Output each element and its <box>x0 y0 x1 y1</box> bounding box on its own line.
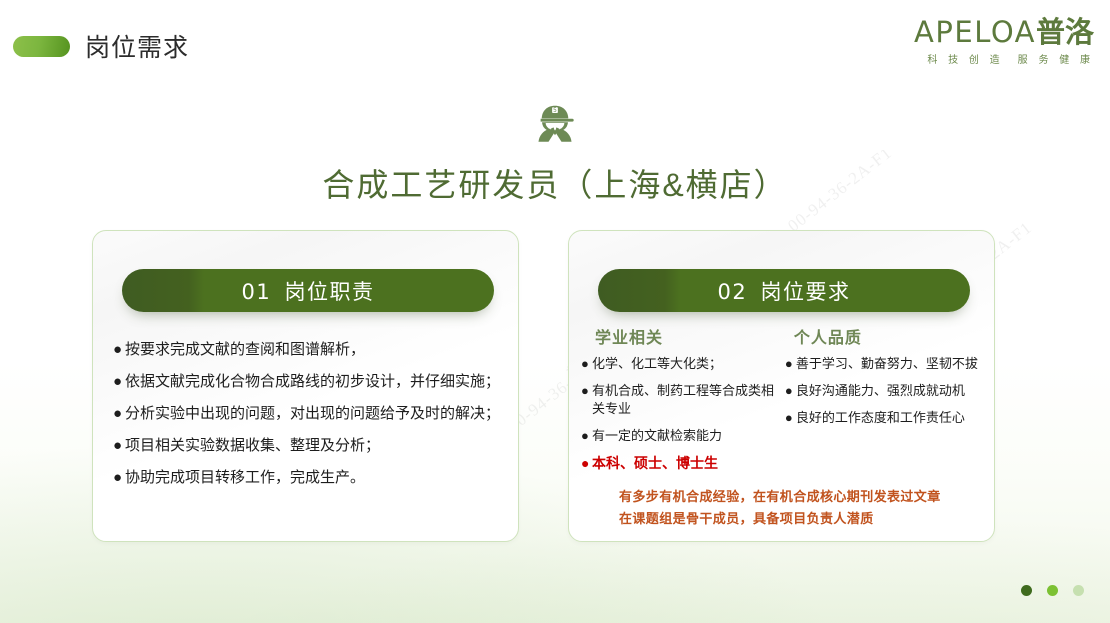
slide-canvas: 普洛药业 70-00-94-36-2A-F1 普洛药业 70-00-94-36-… <box>0 0 1110 623</box>
requirements-banner-text: 02 岗位要求 <box>717 276 850 306</box>
requirements-banner-number: 02 <box>717 280 747 304</box>
note-line: 在课题组是骨干成员，具备项目负责人潜质 <box>619 508 976 530</box>
bullet-icon: ● <box>113 339 125 360</box>
bullet-icon: ● <box>581 454 592 472</box>
list-item-text: 有一定的文献检索能力 <box>592 427 785 445</box>
pagination-dot-2[interactable] <box>1047 585 1058 596</box>
responsibilities-banner-label: 岗位职责 <box>285 281 375 304</box>
list-item: ● 良好的工作态度和工作责任心 <box>785 409 984 427</box>
bullet-icon: ● <box>785 382 796 400</box>
list-item-text: 按要求完成文献的查阅和图谱解析， <box>125 339 502 360</box>
brand-logo: APELOA普洛 科 技 创 造 服 务 健 康 <box>914 18 1094 66</box>
academic-column: ● 化学、化工等大化类； ● 有机合成、制药工程等合成类相关专业 ● 有一定的文… <box>581 355 785 481</box>
list-item: ● 有一定的文献检索能力 <box>581 427 785 445</box>
bullet-icon: ● <box>113 467 125 488</box>
list-item-text: 分析实验中出现的问题，对出现的问题给予及时的解决； <box>125 403 502 424</box>
list-item-highlighted: ● 本科、硕士、博士生 <box>581 454 785 472</box>
note-line: 有多步有机合成经验，在有机合成核心期刊发表过文章 <box>619 486 976 508</box>
list-item: ● 依据文献完成化合物合成路线的初步设计，并仔细实施； <box>113 371 502 392</box>
list-item: ● 有机合成、制药工程等合成类相关专业 <box>581 382 785 418</box>
bullet-icon: ● <box>785 409 796 427</box>
job-title-block: 5 合成工艺研发员（上海&横店） <box>0 100 1110 206</box>
pagination-dot-1[interactable] <box>1021 585 1032 596</box>
list-item: ● 良好沟通能力、强烈成就动机 <box>785 382 984 400</box>
list-item: ● 化学、化工等大化类； <box>581 355 785 373</box>
bullet-icon: ● <box>113 435 125 456</box>
brand-name-cn: 普洛 <box>1036 15 1094 49</box>
list-item-text: 依据文献完成化合物合成路线的初步设计，并仔细实施； <box>125 371 502 392</box>
green-pill-marker-icon <box>13 36 70 57</box>
pagination-dot-3[interactable] <box>1073 585 1084 596</box>
bullet-icon: ● <box>113 403 125 424</box>
worker-engineer-icon: 5 <box>532 100 578 146</box>
bullet-icon: ● <box>581 382 592 418</box>
responsibilities-banner-text: 01 岗位职责 <box>241 276 374 306</box>
requirements-banner-label: 岗位要求 <box>761 281 851 304</box>
requirements-notes: 有多步有机合成经验，在有机合成核心期刊发表过文章 在课题组是骨干成员，具备项目负… <box>619 486 976 530</box>
responsibilities-card: 01 岗位职责 ● 按要求完成文献的查阅和图谱解析， ● 依据文献完成化合物合成… <box>92 230 519 542</box>
requirements-subheadings: 学业相关 个人品质 <box>595 324 972 348</box>
responsibilities-list: ● 按要求完成文献的查阅和图谱解析， ● 依据文献完成化合物合成路线的初步设计，… <box>113 339 502 499</box>
page-title: 岗位需求 <box>85 28 189 64</box>
svg-text:5: 5 <box>553 108 557 114</box>
list-item: ● 协助完成项目转移工作，完成生产。 <box>113 467 502 488</box>
requirements-card: 02 岗位要求 学业相关 个人品质 ● 化学、化工等大化类； ● 有机合成、制药… <box>568 230 995 542</box>
list-item: ● 善于学习、勤奋努力、坚韧不拔 <box>785 355 984 373</box>
pagination-dots[interactable] <box>1021 585 1084 596</box>
bullet-icon: ● <box>581 427 592 445</box>
list-item-text: 良好沟通能力、强烈成就动机 <box>796 382 984 400</box>
brand-name-en: APELOA <box>914 15 1036 49</box>
list-item-text: 化学、化工等大化类； <box>592 355 785 373</box>
slide-header: 岗位需求 APELOA普洛 科 技 创 造 服 务 健 康 <box>0 0 1110 92</box>
subheading-personal: 个人品质 <box>794 324 972 348</box>
bullet-icon: ● <box>785 355 796 373</box>
list-item-text: 本科、硕士、博士生 <box>592 454 785 472</box>
bullet-icon: ● <box>113 371 125 392</box>
list-item-text: 善于学习、勤奋努力、坚韧不拔 <box>796 355 984 373</box>
list-item: ● 分析实验中出现的问题，对出现的问题给予及时的解决； <box>113 403 502 424</box>
responsibilities-banner: 01 岗位职责 <box>122 269 494 312</box>
requirements-banner: 02 岗位要求 <box>598 269 970 312</box>
job-title: 合成工艺研发员（上海&横店） <box>0 160 1110 206</box>
requirements-columns: ● 化学、化工等大化类； ● 有机合成、制药工程等合成类相关专业 ● 有一定的文… <box>581 355 984 481</box>
responsibilities-banner-number: 01 <box>241 280 271 304</box>
personal-column: ● 善于学习、勤奋努力、坚韧不拔 ● 良好沟通能力、强烈成就动机 ● 良好的工作… <box>785 355 984 481</box>
brand-tagline: 科 技 创 造 服 务 健 康 <box>914 56 1094 66</box>
list-item: ● 按要求完成文献的查阅和图谱解析， <box>113 339 502 360</box>
list-item-text: 项目相关实验数据收集、整理及分析； <box>125 435 502 456</box>
list-item-text: 有机合成、制药工程等合成类相关专业 <box>592 382 785 418</box>
bullet-icon: ● <box>581 355 592 373</box>
list-item-text: 协助完成项目转移工作，完成生产。 <box>125 467 502 488</box>
subheading-academic: 学业相关 <box>595 324 794 348</box>
brand-name: APELOA普洛 <box>914 18 1094 47</box>
list-item-text: 良好的工作态度和工作责任心 <box>796 409 984 427</box>
list-item: ● 项目相关实验数据收集、整理及分析； <box>113 435 502 456</box>
